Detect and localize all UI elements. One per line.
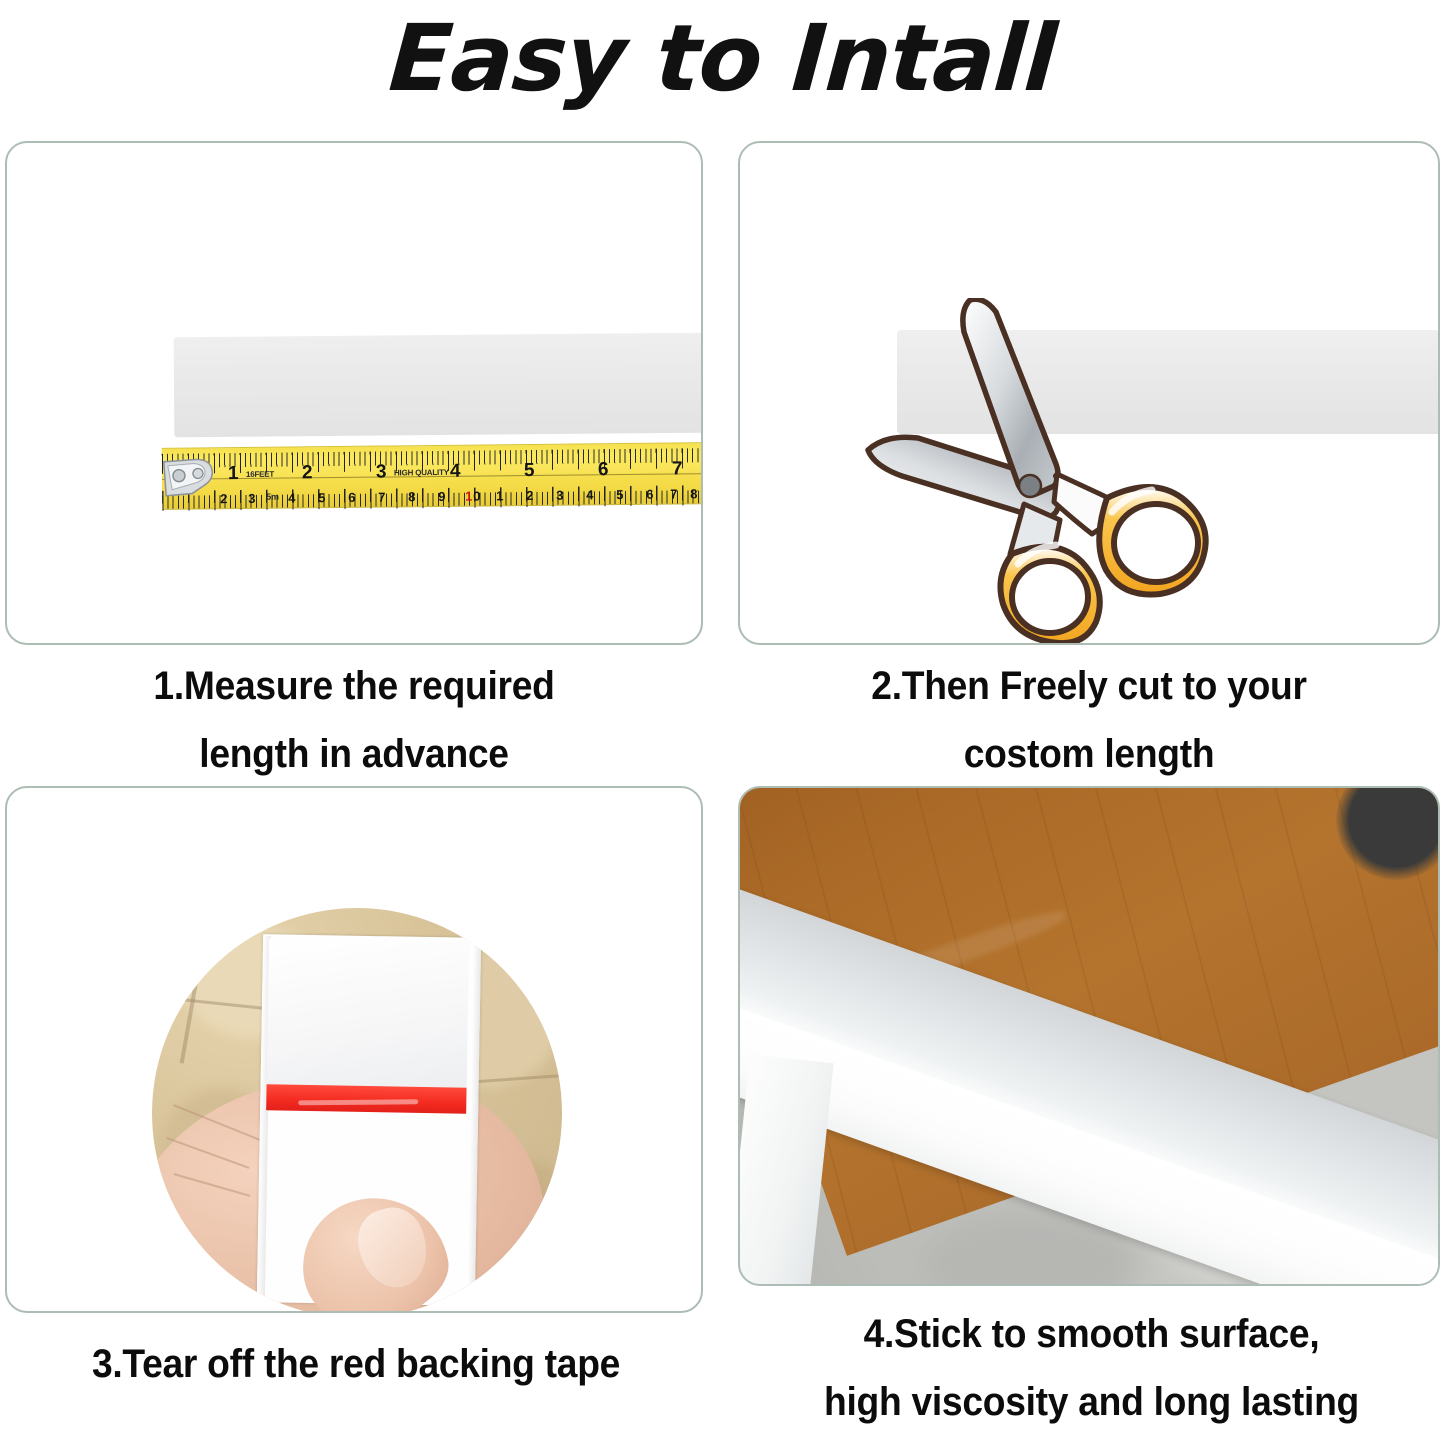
caption-line: 1.Measure the required bbox=[29, 652, 678, 720]
scissors-icon bbox=[860, 298, 1250, 643]
caption-line: length in advance bbox=[29, 720, 678, 788]
step-panel-4 bbox=[738, 786, 1440, 1286]
installed-baseboard-icon bbox=[740, 788, 1438, 1284]
tape-hook-icon bbox=[162, 451, 225, 504]
step-1-caption: 1.Measure the required length in advance bbox=[29, 652, 678, 788]
adhesive-strip-graphic bbox=[174, 333, 703, 438]
caption-line: costom length bbox=[763, 720, 1416, 788]
caption-line: 4.Stick to smooth surface, bbox=[763, 1300, 1421, 1368]
step-4-caption: 4.Stick to smooth surface, high viscosit… bbox=[763, 1300, 1421, 1431]
step-panel-2 bbox=[738, 141, 1440, 645]
caption-line: 3.Tear off the red backing tape bbox=[25, 1330, 687, 1398]
caption-line: 2.Then Freely cut to your bbox=[763, 652, 1416, 720]
page-title: Easy to Intall bbox=[0, 4, 1445, 114]
step-panel-3 bbox=[5, 786, 703, 1313]
tape-measure-icon: 1 2 3 4 5 6 7 16FEET HIGH QUALITY 2 3 4 … bbox=[162, 438, 703, 518]
hand-peeling-tape-icon bbox=[152, 908, 562, 1313]
step-3-caption: 3.Tear off the red backing tape bbox=[25, 1330, 687, 1398]
step-panel-1: 1 2 3 4 5 6 7 16FEET HIGH QUALITY 2 3 4 … bbox=[5, 141, 703, 645]
step-2-caption: 2.Then Freely cut to your costom length bbox=[763, 652, 1416, 788]
caption-line: high viscosity and long lasting bbox=[763, 1368, 1421, 1431]
